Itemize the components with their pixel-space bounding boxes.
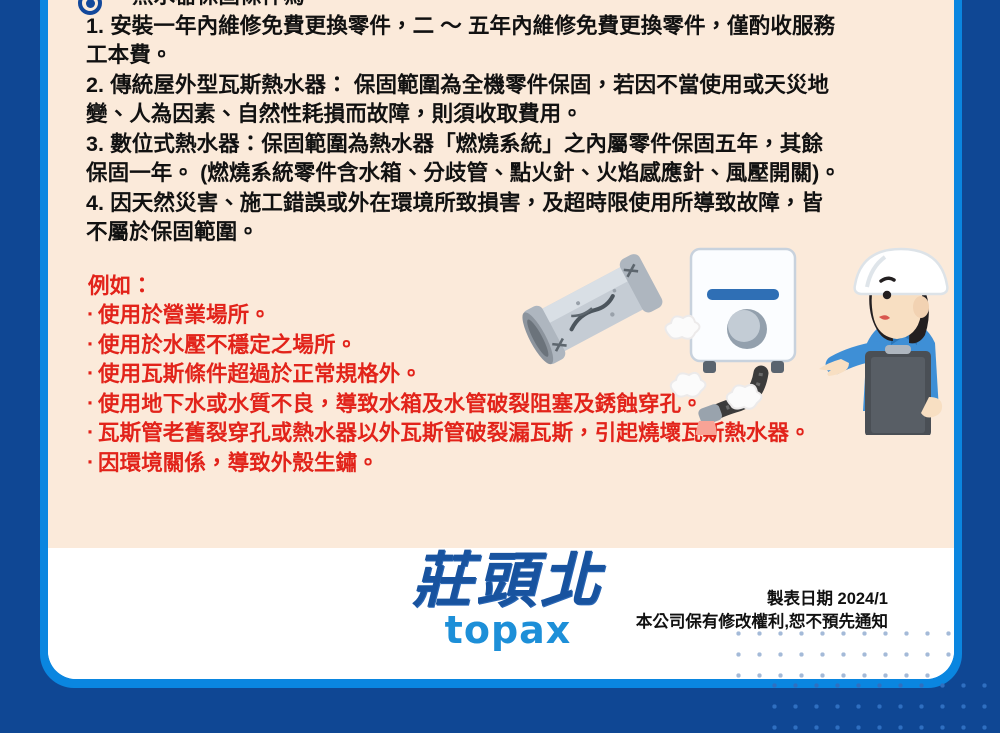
examples-list: 使用於營業場所。 使用於水壓不穩定之場所。 使用瓦斯條件超過於正常規格外。 使用… xyxy=(88,301,948,478)
warranty-item-1-line-1: 1. 安裝一年內維修免費更換零件，二 ～ 五年內維修免費更換零件，僅酌收服務 xyxy=(82,12,948,42)
list-item: 使用於營業場所。 xyxy=(88,301,948,331)
list-item: 使用瓦斯條件超過於正常規格外。 xyxy=(88,360,948,390)
list-item: 使用地下水或水質不良，導致水箱及水管破裂阻塞及銹蝕穿孔。 xyxy=(88,390,948,420)
warranty-item-1-line-2: 工本費。 xyxy=(82,41,948,71)
poster-footer: 莊頭北 topax 製表日期 2024/1 本公司保有修改權利,恕不預先通知 xyxy=(48,548,954,679)
warranty-item-2-line-2: 變、人為因素、自然性耗損而故障，則須收取費用。 xyxy=(82,100,948,130)
examples-label: 例如： xyxy=(88,272,948,302)
brand-name-zh: 莊頭北 xyxy=(393,546,623,616)
warranty-text-block: 熱水器保固條件為 1. 安裝一年內維修免費更換零件，二 ～ 五年內維修免費更換零… xyxy=(82,0,948,478)
warranty-content: 熱水器保固條件為 1. 安裝一年內維修免費更換零件，二 ～ 五年內維修免費更換零… xyxy=(48,0,954,548)
warranty-item-2-line-1: 2. 傳統屋外型瓦斯熱水器： 保固範圍為全機零件保固，若因不當使用或天災地 xyxy=(82,71,948,101)
poster-root: 熱水器保固條件為 1. 安裝一年內維修免費更換零件，二 ～ 五年內維修免費更換零… xyxy=(0,0,1000,733)
warranty-item-4-line-1: 4. 因天然災害、施工錯誤或外在環境所致損害，及超時限使用所導致故障，皆 xyxy=(82,189,948,219)
brand-logo: 莊頭北 topax xyxy=(393,546,623,650)
dot-pattern-dark xyxy=(760,669,1000,733)
warranty-item-3-line-2: 保固一年。 (燃燒系統零件含水箱、分歧管、點火針、火焰感應針、風壓開關)。 xyxy=(82,159,948,189)
examples-section: 例如： 使用於營業場所。 使用於水壓不穩定之場所。 使用瓦斯條件超過於正常規格外… xyxy=(82,272,948,479)
list-item: 因環境關係，導致外殼生鏽。 xyxy=(88,449,948,479)
list-item: 瓦斯管老舊裂穿孔或熱水器以外瓦斯管破裂漏瓦斯，引起燒壞瓦斯熱水器。 xyxy=(88,419,948,449)
date-label: 製表日期 2024/1 xyxy=(636,588,888,611)
warranty-item-3-line-1: 3. 數位式熱水器：保固範圍為熱水器「燃燒系統」之內屬零件保固五年，其餘 xyxy=(82,130,948,160)
section-spacer xyxy=(82,248,948,270)
warranty-heading: 熱水器保固條件為 xyxy=(82,0,948,12)
warranty-item-4-line-2: 不屬於保固範圍。 xyxy=(82,218,948,248)
list-item: 使用於水壓不穩定之場所。 xyxy=(88,331,948,361)
poster-panel: 熱水器保固條件為 1. 安裝一年內維修免費更換零件，二 ～ 五年內維修免費更換零… xyxy=(48,0,954,679)
brand-name-en: topax xyxy=(393,610,623,650)
